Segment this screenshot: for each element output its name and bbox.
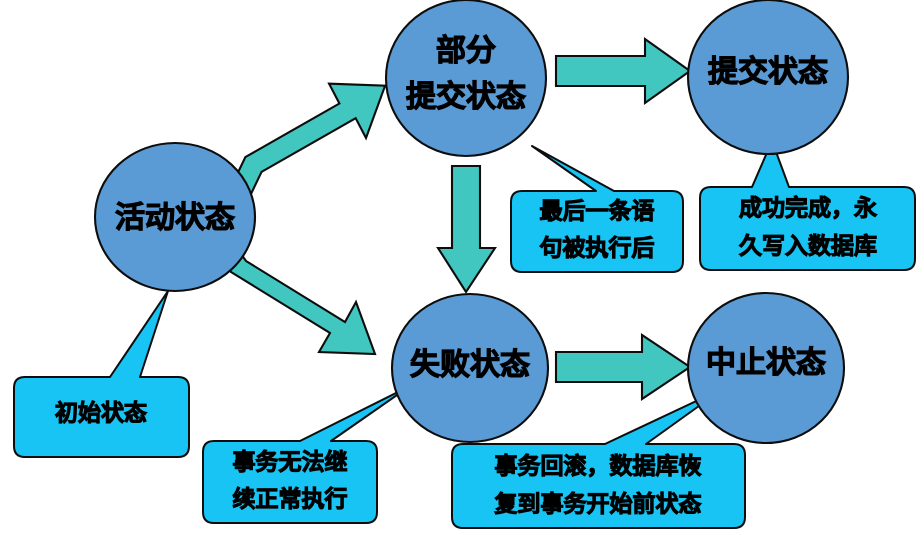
arrow-active-to-partial-shape	[233, 83, 387, 195]
arrow-active-to-partially-committed	[233, 83, 387, 195]
partially-committed-state-node[interactable]: 部分 提交状态	[386, 0, 546, 156]
committed-state-node[interactable]: 提交状态	[688, 0, 848, 154]
partially-committed-state-circle	[386, 0, 546, 156]
callout-rollback-line-1: 复到事务开始前状态	[494, 491, 702, 518]
callout-rollback-line-0: 事务回滚，数据库恢	[495, 453, 702, 480]
callout-last-statement-executed[interactable]: 最后一条语 句被执行后	[511, 146, 683, 272]
failed-state-label: 失败状态	[410, 348, 530, 383]
aborted-state-label: 中止状态	[706, 346, 826, 381]
arrow-partially-committed-to-failed	[438, 166, 495, 292]
arrow-partial-to-committed-shape	[556, 39, 690, 103]
callout-initial-state[interactable]: 初始状态	[14, 291, 189, 457]
transaction-state-diagram: 初始状态 最后一条语 句被执行后 成功完成，永 久写入数据库 事务无法继 续正常…	[0, 0, 924, 535]
callout-last-statement-line-1: 句被执行后	[540, 235, 655, 262]
active-state-node[interactable]: 活动状态	[95, 143, 255, 291]
arrow-partially-committed-to-committed	[556, 39, 690, 103]
arrow-failed-to-aborted	[556, 335, 690, 399]
callout-last-statement-line-0: 最后一条语	[540, 198, 655, 225]
failed-state-node[interactable]: 失败状态	[392, 294, 548, 442]
callout-initial-state-shape	[14, 291, 189, 457]
callout-initial-state-line-0: 初始状态	[55, 400, 147, 427]
diagram-canvas: 初始状态 最后一条语 句被执行后 成功完成，永 久写入数据库 事务无法继 续正常…	[0, 0, 924, 535]
partially-committed-state-label-line-1: 提交状态	[406, 80, 526, 115]
callout-success-persisted[interactable]: 成功完成，永 久写入数据库	[700, 141, 915, 270]
callout-cannot-continue-line-0: 事务无法继	[233, 449, 348, 476]
active-state-label: 活动状态	[115, 201, 235, 236]
committed-state-label: 提交状态	[708, 55, 828, 90]
aborted-state-node[interactable]: 中止状态	[688, 293, 844, 443]
callout-success-persisted-line-0: 成功完成，永	[739, 195, 877, 222]
callout-transaction-cannot-continue[interactable]: 事务无法继 续正常执行	[203, 386, 410, 523]
arrow-failed-to-aborted-shape	[556, 335, 690, 399]
callout-cannot-continue-line-1: 续正常执行	[233, 486, 348, 513]
partially-committed-state-label-line-0: 部分	[436, 34, 496, 69]
callout-success-persisted-line-1: 久写入数据库	[739, 233, 877, 260]
arrow-partial-to-failed-shape	[438, 166, 495, 292]
